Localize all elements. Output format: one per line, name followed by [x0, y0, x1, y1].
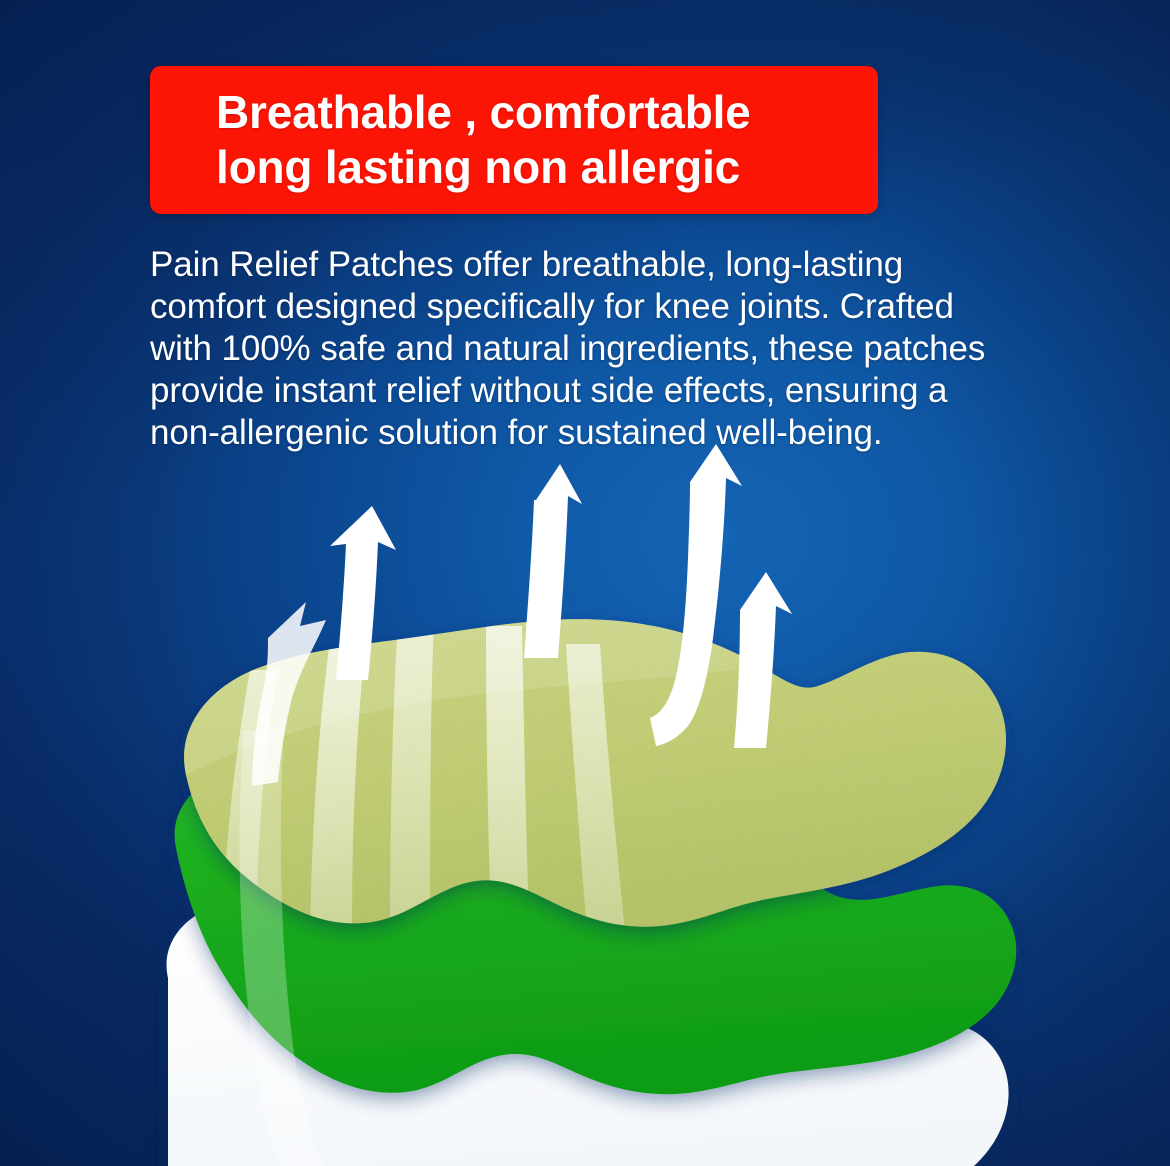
- headline-line-1: Breathable , comfortable: [216, 85, 878, 140]
- headline-banner: Breathable , comfortable long lasting no…: [150, 66, 878, 214]
- body-line-1: Pain Relief Patches offer breathable, lo…: [150, 244, 1030, 286]
- body-line-2: comfort designed specifically for knee j…: [150, 286, 1030, 328]
- body-line-4: provide instant relief without side effe…: [150, 370, 1030, 412]
- patch-illustration: [0, 430, 1170, 1166]
- product-infographic: Breathable , comfortable long lasting no…: [0, 0, 1170, 1166]
- body-paragraph: Pain Relief Patches offer breathable, lo…: [150, 244, 1030, 454]
- body-line-3: with 100% safe and natural ingredients, …: [150, 328, 1030, 370]
- headline-line-2: long lasting non allergic: [216, 140, 878, 195]
